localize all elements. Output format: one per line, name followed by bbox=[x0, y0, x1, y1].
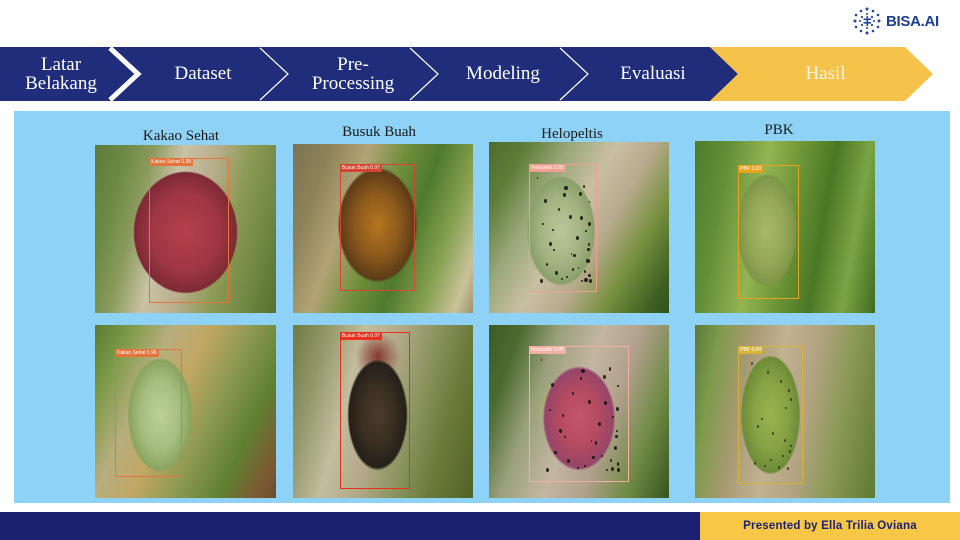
process-step-label: Dataset bbox=[171, 64, 236, 83]
detection-image-busuk-buah-2: Busuk Buah 0.97 bbox=[293, 325, 473, 498]
detection-bounding-box: Helopeltis 0.95 bbox=[529, 346, 630, 483]
detection-image-helopeltis-2: Helopeltis 0.95 bbox=[489, 325, 669, 498]
process-step-latar[interactable]: LatarBelakang bbox=[0, 47, 138, 101]
presenter-credit: Presented by Ella Trilia Oviana bbox=[743, 520, 917, 532]
process-step-bar: LatarBelakangDatasetPre-ProcessingModeli… bbox=[0, 47, 905, 101]
detection-bounding-box: PBK 0.94 bbox=[738, 346, 803, 484]
process-step-label: Modeling bbox=[462, 64, 544, 83]
detection-image-kakao-sehat-2: Kakao Sehat 0.96 bbox=[95, 325, 276, 498]
process-step-label: Hasil bbox=[801, 64, 849, 83]
logo-wordmark: BISA.AI bbox=[886, 14, 939, 29]
detection-label-tag: Helopeltis 0.95 bbox=[529, 346, 566, 354]
detection-label-tag: Busuk Buah 0.97 bbox=[340, 332, 382, 340]
detection-image-helopeltis-1: Helopeltis 0.92 bbox=[489, 142, 669, 313]
detection-bounding-box: PBK 0.93 bbox=[738, 165, 799, 299]
detection-bounding-box: Busuk Buah 0.97 bbox=[340, 164, 416, 291]
detection-label-tag: Helopeltis 0.92 bbox=[529, 164, 566, 172]
detection-image-pbk-2: PBK 0.94 bbox=[695, 325, 875, 498]
detection-bounding-box: Kakao Sehat 0.96 bbox=[115, 349, 182, 477]
column-label-pbk: PBK bbox=[709, 122, 849, 139]
detection-label-tag: Kakao Sehat 0.96 bbox=[115, 349, 159, 357]
bisa-ai-logo: BISA.AI bbox=[852, 4, 952, 38]
chevron-divider bbox=[0, 47, 1, 101]
process-step-label: Pre-Processing bbox=[308, 55, 398, 94]
bisa-ai-dot-cluster-icon bbox=[852, 6, 882, 36]
detection-label-tag: Busuk Buah 0.97 bbox=[340, 164, 382, 172]
column-label-kakao-sehat: Kakao Sehat bbox=[111, 128, 251, 145]
detection-label-tag: Kakao Sehat 0.98 bbox=[149, 158, 193, 166]
process-step-label: Evaluasi bbox=[616, 64, 689, 83]
process-step-hasil[interactable]: Hasil bbox=[710, 47, 933, 101]
column-label-busuk-buah: Busuk Buah bbox=[309, 124, 449, 141]
detection-bounding-box: Kakao Sehat 0.98 bbox=[149, 158, 229, 302]
detection-image-busuk-buah-1: Busuk Buah 0.97 bbox=[293, 144, 473, 313]
detection-bounding-box: Helopeltis 0.92 bbox=[529, 164, 597, 292]
results-panel: Kakao SehatBusuk BuahHelopeltisPBK Kakao… bbox=[14, 111, 950, 503]
footer-bar: Presented by Ella Trilia Oviana bbox=[0, 512, 960, 540]
process-step-label: LatarBelakang bbox=[21, 55, 101, 94]
detection-bounding-box: Busuk Buah 0.97 bbox=[340, 332, 410, 489]
detection-label-tag: PBK 0.93 bbox=[738, 165, 763, 173]
detection-image-pbk-1: PBK 0.93 bbox=[695, 141, 875, 313]
detection-label-tag: PBK 0.94 bbox=[738, 346, 763, 354]
column-label-helopeltis: Helopeltis bbox=[502, 126, 642, 143]
detection-image-kakao-sehat-1: Kakao Sehat 0.98 bbox=[95, 145, 276, 313]
footer-credit-block: Presented by Ella Trilia Oviana bbox=[700, 512, 960, 540]
